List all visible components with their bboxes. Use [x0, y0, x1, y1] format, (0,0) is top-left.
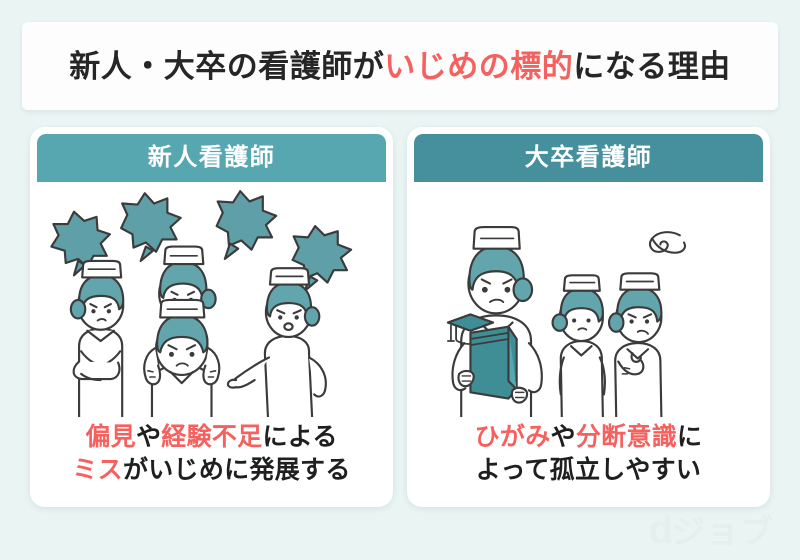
caption-line-1: 偏見や経験不足による: [37, 421, 386, 454]
card-caption-left: 偏見や経験不足による ミスがいじめに発展する: [37, 417, 386, 500]
card-header-right: 大卒看護師: [414, 134, 763, 182]
caption-line-2: よって孤立しやすい: [414, 454, 763, 487]
illustration-bullying-scene: [37, 182, 386, 417]
caption-token: ミス: [72, 456, 123, 484]
nurse-figure-graduate-with-books: [448, 227, 542, 417]
illustration-isolation-scene: [414, 182, 763, 417]
card-header-label-right: 大卒看護師: [525, 146, 653, 170]
title-banner: 新人・大卒の看護師がいじめの標的になる理由: [22, 22, 778, 110]
page-title: 新人・大卒の看護師がいじめの標的になる理由: [69, 51, 731, 82]
logo-wordmark: ジョブ: [672, 515, 774, 548]
caption-token: 経験不足: [161, 423, 262, 451]
card-caption-right: ひがみや分断意識に よって孤立しやすい: [414, 417, 763, 500]
card-header-left: 新人看護師: [37, 134, 386, 182]
speech-bubble-3: [217, 191, 277, 259]
nurse-figure-front-distressed: [144, 300, 219, 417]
caption-token: や: [551, 423, 576, 451]
infographic-page: { "theme": { "background": "#e9f4f3", "a…: [0, 0, 800, 560]
caption-token: や: [136, 423, 161, 451]
caption-token: 偏見: [85, 423, 136, 451]
caption-token: よって孤立しやすい: [476, 456, 701, 484]
caption-line-1: ひがみや分断意識に: [414, 421, 763, 454]
brand-logo: d ジョブ: [649, 510, 774, 550]
card-new-graduate-nurse: 新人看護師: [30, 127, 393, 507]
nurse-figure-left: [71, 261, 123, 417]
caption-token: による: [262, 423, 337, 451]
nurse-figure-right-pointing: [228, 268, 326, 417]
card-header-label-left: 新人看護師: [148, 146, 276, 170]
caption-token: がいじめに発展する: [123, 456, 351, 484]
title-segment-highlight: いじめの標的: [384, 49, 573, 84]
caption-token: ひがみ: [475, 423, 551, 451]
nurse-figure-middle: [553, 275, 605, 417]
logo-mark: d: [649, 510, 672, 550]
card-university-graduate-nurse: 大卒看護師: [407, 127, 770, 507]
nurse-figure-whispering: [609, 273, 661, 417]
title-segment-leading: 新人・大卒の看護師が: [69, 49, 384, 84]
caption-token: 分断意識: [576, 423, 677, 451]
caption-line-2: ミスがいじめに発展する: [37, 454, 386, 487]
caption-token: に: [677, 423, 702, 451]
books-stack: [470, 327, 516, 399]
comparison-cards: 新人看護師: [30, 127, 770, 507]
title-segment-trailing: になる理由: [573, 49, 731, 84]
dizzy-swirl-icon: [650, 232, 685, 253]
